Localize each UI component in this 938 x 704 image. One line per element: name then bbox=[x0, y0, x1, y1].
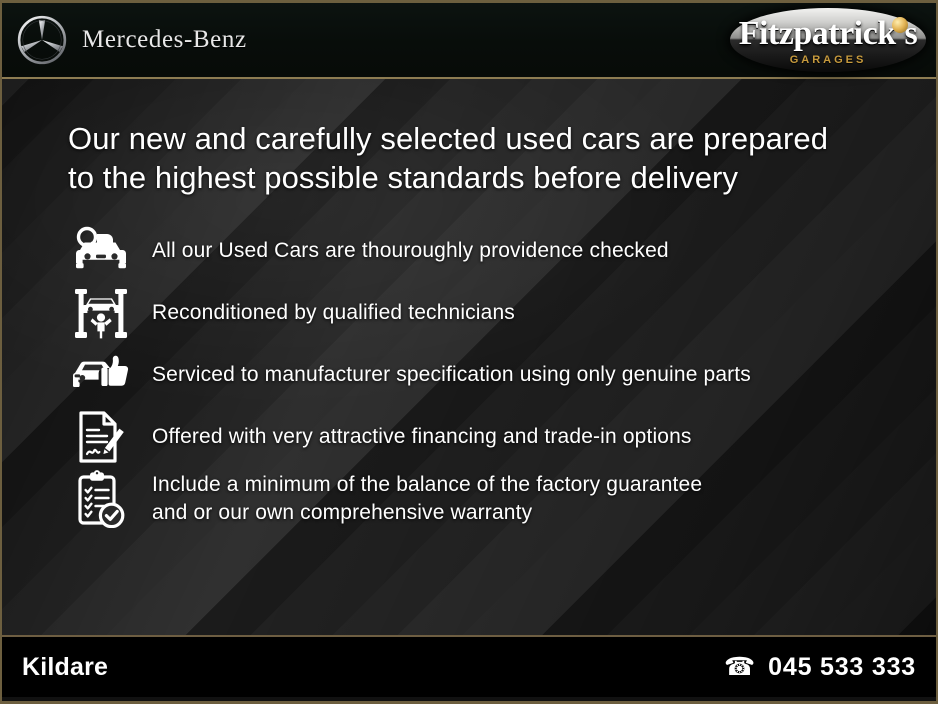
clipboard-checklist-verified-icon bbox=[68, 471, 134, 527]
header-bar: Mercedes-Benz Fitzpatrick's GARAGES bbox=[2, 3, 936, 79]
telephone-icon: ☎ bbox=[724, 655, 755, 680]
main-content-area: Our new and carefully selected used cars… bbox=[2, 79, 936, 635]
phone-number[interactable]: 045 533 333 bbox=[768, 653, 916, 682]
mercedes-benz-wordmark: Mercedes-Benz bbox=[82, 26, 247, 54]
content-wrapper: Our new and carefully selected used cars… bbox=[2, 79, 936, 529]
list-item: Offered with very attractive financing a… bbox=[68, 407, 936, 467]
headline-line-2: to the highest possible standards before… bbox=[68, 158, 888, 197]
list-item-label: All our Used Cars are thouroughly provid… bbox=[152, 237, 669, 265]
fitzpatricks-subtitle: GARAGES bbox=[790, 54, 867, 66]
list-item: Serviced to manufacturer specification u… bbox=[68, 345, 936, 405]
page-title: Our new and carefully selected used cars… bbox=[68, 119, 888, 197]
advertisement-slide: Mercedes-Benz Fitzpatrick's GARAGES Our … bbox=[0, 0, 938, 704]
document-signature-pen-icon bbox=[68, 409, 134, 465]
logo-highlight-icon bbox=[892, 17, 908, 33]
fitzpatricks-garages-logo[interactable]: Fitzpatrick's GARAGES bbox=[730, 8, 926, 72]
list-item: Reconditioned by qualified technicians bbox=[68, 283, 936, 343]
benefits-list: All our Used Cars are thouroughly provid… bbox=[68, 221, 936, 529]
list-item-label: Serviced to manufacturer specification u… bbox=[152, 361, 751, 389]
fitzpatricks-name: Fitzpatrick's bbox=[739, 15, 918, 52]
mercedes-star-icon bbox=[16, 14, 68, 66]
list-item: All our Used Cars are thouroughly provid… bbox=[68, 221, 936, 281]
car-inspection-magnifier-icon bbox=[68, 223, 134, 279]
footer-bar: Kildare ☎ 045 533 333 bbox=[2, 635, 936, 697]
phone-contact[interactable]: ☎ 045 533 333 bbox=[724, 653, 916, 682]
car-thumbs-up-icon bbox=[68, 347, 134, 403]
mercedes-benz-brand-lockup: Mercedes-Benz bbox=[16, 14, 247, 66]
headline-line-1: Our new and carefully selected used cars… bbox=[68, 119, 888, 158]
list-item-label: Include a minimum of the balance of the … bbox=[152, 471, 702, 526]
list-item-label-line-1: Include a minimum of the balance of the … bbox=[152, 473, 702, 496]
list-item-label: Offered with very attractive financing a… bbox=[152, 423, 692, 451]
list-item: Include a minimum of the balance of the … bbox=[68, 469, 936, 529]
dealer-location: Kildare bbox=[22, 653, 108, 682]
car-on-lift-technician-icon bbox=[68, 285, 134, 341]
list-item-label: Reconditioned by qualified technicians bbox=[152, 299, 515, 327]
list-item-label-line-2: and or our own comprehensive warranty bbox=[152, 499, 702, 527]
